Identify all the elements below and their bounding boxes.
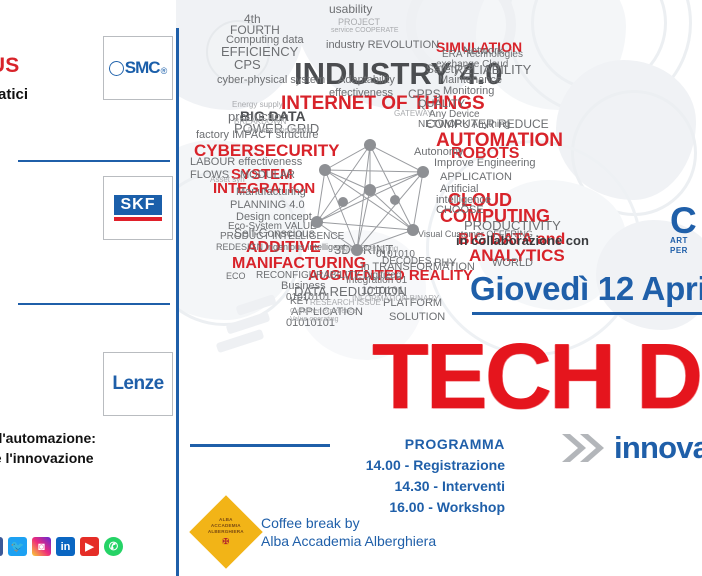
alba-accademia-alberghiera-logo: ALBA ACCADEMIA ALBERGHIERA ✠: [189, 495, 263, 569]
word-cloud-term: cyber-physical system: [217, 75, 325, 86]
word-cloud-term: PLANNING 4.0: [230, 200, 305, 211]
divider-2: [18, 303, 170, 305]
lenze-logo: Lenze: [103, 352, 173, 416]
word-cloud-term: PROJECT: [338, 18, 380, 27]
topic-subtitle-industry40-line1: oring: [0, 244, 176, 262]
instagram-icon[interactable]: ◙: [32, 537, 51, 556]
programma-block: PROGRAMMA 14.00 - Registrazione 14.30 - …: [200, 436, 505, 515]
word-cloud-term: Computing data: [226, 35, 304, 46]
double-chevron-right-icon: [560, 431, 606, 465]
social-icons-bar[interactable]: f 🐦 ◙ in ▶ ✆: [0, 537, 123, 556]
innova-brand: innova: [560, 430, 702, 466]
carta-logo-mark: C: [670, 205, 697, 236]
lenze-logo-text: Lenze: [112, 373, 163, 395]
event-title: TECH D: [372, 330, 700, 423]
coffee-break-block: ALBA ACCADEMIA ALBERGHIERA ✠ Coffee brea…: [200, 506, 436, 558]
word-cloud-term: Monitoring: [443, 86, 494, 97]
word-cloud-term: Asset syn: [210, 176, 245, 184]
alba-logo-line3: ALBERGHIERA: [208, 529, 244, 535]
word-cloud-term: usability: [329, 3, 372, 15]
topic-subtitle-meccatronica-line1: ne dell'automazione:: [0, 430, 176, 448]
word-cloud-term: NETWORK Anything: [418, 120, 510, 130]
programma-item-0: 14.00 - Registrazione: [200, 457, 505, 473]
word-cloud-term: Business: [281, 281, 326, 292]
word-cloud-term: Adaptability: [338, 75, 395, 86]
word-cloud-term: RESEARCH ISSUE: [310, 299, 381, 307]
word-cloud-term: MODULAR: [240, 170, 295, 181]
word-cloud-term: effectiveness: [329, 88, 393, 99]
event-date-underline: [472, 312, 702, 315]
word-cloud-term: exchange Cloud: [436, 60, 508, 70]
coffee-break-line1: Coffee break by: [261, 514, 436, 532]
twitter-icon[interactable]: 🐦: [8, 537, 27, 556]
alba-logo-line1: ALBA: [208, 517, 244, 523]
youtube-icon[interactable]: ▶: [80, 537, 99, 556]
word-cloud-term: Customer experience: [290, 308, 357, 315]
flyer-page: INDUSTRY 4.0INTERNET OF THINGSAUTOMATION…: [0, 0, 702, 576]
innova-brand-text: innova: [614, 430, 702, 466]
topic-subtitle-meccatronica-line2: scita e l'innovazione: [0, 450, 176, 468]
word-cloud-term: SOLUTION: [389, 312, 445, 323]
carta-logo-line2: PER: [670, 246, 697, 256]
alba-crest-icon: ✠: [208, 536, 244, 547]
programma-item-1: 14.30 - Interventi: [200, 478, 505, 494]
alba-logo-line2: ACCADEMIA: [208, 523, 244, 529]
smc-registered-icon: ®: [161, 66, 168, 76]
carta-logo: C ART PER: [670, 205, 697, 256]
word-cloud-term: Value operating: [290, 316, 339, 323]
word-cloud-term: WORLD: [492, 258, 533, 269]
word-cloud-term: ECO: [226, 272, 246, 281]
network-graph-icon: [295, 130, 455, 270]
word-cloud-term: GATEWAY: [394, 110, 433, 118]
skf-logo: SKF: [103, 176, 173, 240]
coffee-break-text: Coffee break by Alba Accademia Alberghie…: [261, 514, 436, 550]
divider-1: [18, 160, 170, 162]
word-cloud-term: service COOPERATE: [331, 27, 399, 34]
smc-swirl-icon: [109, 61, 124, 76]
word-cloud-term: BREAKDOWN: [234, 118, 286, 126]
vertical-divider: [176, 28, 179, 576]
whatsapp-icon[interactable]: ✆: [104, 537, 123, 556]
word-cloud-term: Energy supply: [232, 101, 283, 109]
word-cloud-term: CPS: [234, 58, 261, 71]
coffee-break-line2: Alba Accademia Alberghiera: [261, 532, 436, 550]
linkedin-icon[interactable]: in: [56, 537, 75, 556]
left-topics-column: OCUS neumatici SMC ® 4.0 oring o SKF I: [0, 0, 176, 576]
word-cloud-term: LABOUR effectiveness: [190, 157, 302, 168]
word-cloud-term: Integration 01: [346, 276, 407, 286]
programma-title: PROGRAMMA: [200, 436, 505, 452]
event-date: Giovedì 12 Aprile: [470, 270, 702, 308]
smc-logo-text: SMC: [125, 58, 160, 78]
event-title-text: TECH D: [372, 330, 700, 423]
skf-logo-text: SKF: [114, 195, 162, 215]
skf-underline: [114, 217, 162, 221]
smc-logo: SMC ®: [103, 36, 173, 100]
topic-subtitle-industry40-line2: o: [0, 264, 176, 282]
collaboration-label: in collaborazione con: [456, 233, 589, 248]
word-cloud-term: industry REVOLUTION: [326, 40, 439, 51]
facebook-icon[interactable]: f: [0, 537, 3, 556]
